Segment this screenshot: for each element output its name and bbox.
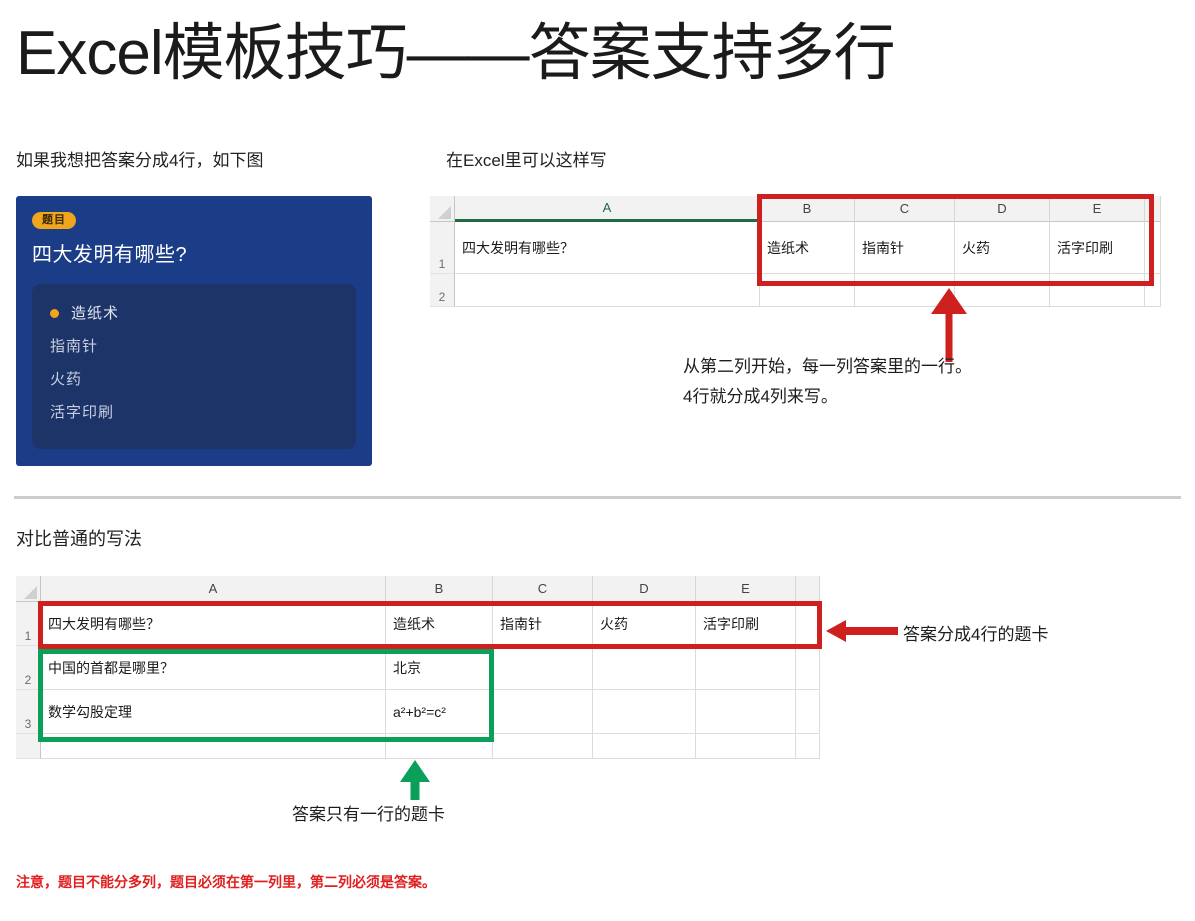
cell-a1[interactable]: 四大发明有哪些？ <box>41 602 386 646</box>
card-answer-line-4: 活字印刷 <box>50 405 338 420</box>
cell-b3[interactable]: a²+b²=c² <box>386 690 493 734</box>
column-header-e[interactable]: E <box>1050 196 1145 222</box>
page-title: Excel模板技巧——答案支持多行 <box>16 18 895 89</box>
select-all-corner-icon[interactable] <box>430 196 455 222</box>
question-card: 题目 四大发明有哪些? 造纸术 指南针 火药 活字印刷 <box>16 196 372 466</box>
row-header-1[interactable]: 1 <box>430 222 455 274</box>
cell-a2[interactable] <box>455 274 760 307</box>
table-row[interactable]: 3 数学勾股定理 a²+b²=c² <box>16 690 822 734</box>
cell-d3[interactable] <box>593 690 696 734</box>
red-left-arrow-icon <box>826 620 898 642</box>
card-answer-box: 造纸术 指南针 火药 活字印刷 <box>32 284 356 449</box>
cell-c3[interactable] <box>493 690 593 734</box>
cell-c2[interactable] <box>493 646 593 690</box>
cell-b2[interactable]: 北京 <box>386 646 493 690</box>
column-header-row: A B C D E <box>430 196 1162 222</box>
cell-e1[interactable]: 活字印刷 <box>696 602 796 646</box>
cell-b1[interactable]: 造纸术 <box>386 602 493 646</box>
row-header-4[interactable] <box>16 734 41 759</box>
cell-f2[interactable] <box>1145 274 1161 307</box>
cell-b2[interactable] <box>760 274 855 307</box>
table-row[interactable]: 1 四大发明有哪些？ 造纸术 指南针 火药 活字印刷 <box>16 602 822 646</box>
right-section-heading: 在Excel里可以这样写 <box>446 146 607 171</box>
column-header-f[interactable] <box>1145 196 1161 222</box>
cell-c1[interactable]: 指南针 <box>855 222 955 274</box>
card-answer-text: 造纸术 <box>71 306 119 321</box>
table-row[interactable]: 2 中国的首都是哪里？ 北京 <box>16 646 822 690</box>
cell-f2[interactable] <box>796 646 820 690</box>
card-answer-line-2: 指南针 <box>50 339 338 354</box>
cell-d1[interactable]: 火药 <box>593 602 696 646</box>
red-annotation-label: 答案分成4行的题卡 <box>903 620 1048 645</box>
column-header-d[interactable]: D <box>955 196 1050 222</box>
cell-c4[interactable] <box>493 734 593 759</box>
cell-f1[interactable] <box>796 602 820 646</box>
cell-d2[interactable] <box>955 274 1050 307</box>
card-answer-line-1: 造纸术 <box>50 306 338 321</box>
excel-table-top[interactable]: A B C D E 1 四大发明有哪些？ 造纸术 指南针 火药 活字印刷 2 <box>430 196 1162 308</box>
card-answer-text: 火药 <box>50 372 82 387</box>
card-answer-text: 活字印刷 <box>50 405 114 420</box>
card-answer-line-3: 火药 <box>50 372 338 387</box>
cell-a1[interactable]: 四大发明有哪些？ <box>455 222 760 274</box>
cell-a4[interactable] <box>41 734 386 759</box>
red-up-arrow-icon <box>931 288 967 362</box>
left-section-heading: 如果我想把答案分成4行，如下图 <box>16 146 263 171</box>
column-header-d[interactable]: D <box>593 576 696 602</box>
top-annotation: 从第二列开始，每一列答案里的一行。 4行就分成4列来写。 <box>683 352 1153 412</box>
cell-c1[interactable]: 指南针 <box>493 602 593 646</box>
cell-d2[interactable] <box>593 646 696 690</box>
cell-e2[interactable] <box>696 646 796 690</box>
column-header-b[interactable]: B <box>386 576 493 602</box>
cell-b1[interactable]: 造纸术 <box>760 222 855 274</box>
cell-f1[interactable] <box>1145 222 1161 274</box>
column-header-a[interactable]: A <box>41 576 386 602</box>
cell-f3[interactable] <box>796 690 820 734</box>
green-annotation-label: 答案只有一行的题卡 <box>292 800 445 825</box>
select-all-corner-icon[interactable] <box>16 576 41 602</box>
top-annotation-line-2: 4行就分成4列来写。 <box>683 382 1153 412</box>
column-header-e[interactable]: E <box>696 576 796 602</box>
section-divider <box>14 496 1181 499</box>
card-question-text: 四大发明有哪些? <box>32 238 356 267</box>
slide-root: Excel模板技巧——答案支持多行 如果我想把答案分成4行，如下图 在Excel… <box>0 0 1195 921</box>
column-header-b[interactable]: B <box>760 196 855 222</box>
cell-f4[interactable] <box>796 734 820 759</box>
cell-e2[interactable] <box>1050 274 1145 307</box>
cell-d4[interactable] <box>593 734 696 759</box>
cell-e3[interactable] <box>696 690 796 734</box>
column-header-c[interactable]: C <box>493 576 593 602</box>
warning-text: 注意，题目不能分多列，题目必须在第一列里，第二列必须是答案。 <box>16 872 436 892</box>
table-row[interactable] <box>16 734 822 759</box>
cell-e4[interactable] <box>696 734 796 759</box>
cell-d1[interactable]: 火药 <box>955 222 1050 274</box>
compare-section-heading: 对比普通的写法 <box>16 525 142 551</box>
row-header-2[interactable]: 2 <box>16 646 41 690</box>
column-header-a[interactable]: A <box>455 196 760 222</box>
cell-a3[interactable]: 数学勾股定理 <box>41 690 386 734</box>
column-header-row: A B C D E <box>16 576 822 602</box>
cell-e1[interactable]: 活字印刷 <box>1050 222 1145 274</box>
card-answer-text: 指南针 <box>50 339 98 354</box>
table-row[interactable]: 1 四大发明有哪些？ 造纸术 指南针 火药 活字印刷 <box>430 222 1162 274</box>
column-header-f[interactable] <box>796 576 820 602</box>
column-header-c[interactable]: C <box>855 196 955 222</box>
bullet-icon <box>50 309 59 318</box>
question-badge: 题目 <box>32 212 76 229</box>
table-row[interactable]: 2 <box>430 274 1162 307</box>
top-annotation-line-1: 从第二列开始，每一列答案里的一行。 <box>683 352 1153 382</box>
excel-table-bottom[interactable]: A B C D E 1 四大发明有哪些？ 造纸术 指南针 火药 活字印刷 2 中… <box>16 576 822 784</box>
cell-b4[interactable] <box>386 734 493 759</box>
row-header-3[interactable]: 3 <box>16 690 41 734</box>
green-up-arrow-icon <box>400 760 430 800</box>
row-header-2[interactable]: 2 <box>430 274 455 307</box>
row-header-1[interactable]: 1 <box>16 602 41 646</box>
cell-a2[interactable]: 中国的首都是哪里？ <box>41 646 386 690</box>
